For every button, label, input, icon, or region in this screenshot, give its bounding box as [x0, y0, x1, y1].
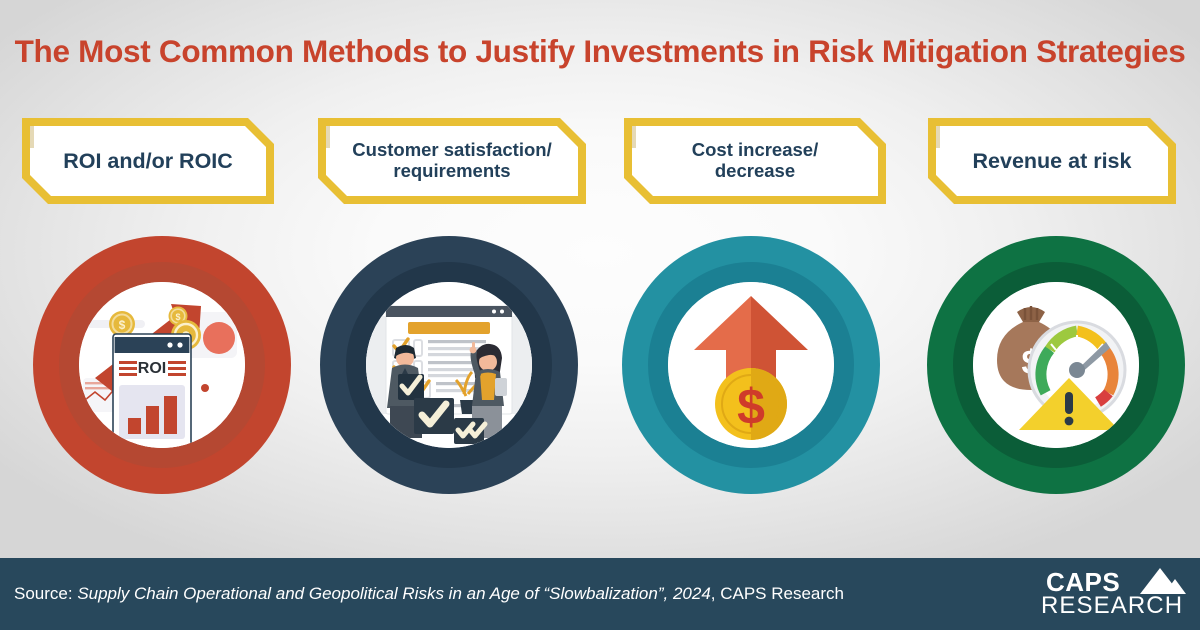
banner-label: Cost increase/ decrease [684, 140, 826, 181]
banner-row: ROI and/or ROIC Customer satisfaction/ r… [0, 118, 1200, 213]
banner-label: ROI and/or ROIC [55, 149, 241, 173]
icon-circle-revenue-at-risk: $ [927, 236, 1185, 494]
method-banner-cost-change[interactable]: Cost increase/ decrease [624, 118, 886, 204]
caps-research-logo[interactable]: CAPS RESEARCH [1030, 566, 1190, 622]
banner-notch [326, 126, 330, 148]
money-bag-gauge-warning-icon: $ [973, 282, 1139, 448]
icon-circle-row: $ $ $ [0, 236, 1200, 506]
banner-notch [632, 126, 636, 148]
roi-dashboard-icon: $ $ $ [79, 282, 245, 448]
svg-text:$: $ [119, 318, 126, 332]
svg-text:ROI: ROI [138, 360, 166, 377]
svg-text:$: $ [175, 312, 180, 322]
banner-inner: ROI and/or ROIC [30, 126, 266, 196]
icon-circle-cost-change: $ [622, 236, 880, 494]
page-title: The Most Common Methods to Justify Inves… [0, 33, 1200, 70]
icon-circle-roi: $ $ $ [33, 236, 291, 494]
banner-inner: Customer satisfaction/ requirements [326, 126, 578, 196]
banner-notch [936, 126, 940, 148]
method-banner-customer-satisfaction[interactable]: Customer satisfaction/ requirements [318, 118, 586, 204]
source-prefix: Source: [14, 584, 77, 603]
banner-inner: Cost increase/ decrease [632, 126, 878, 196]
banner-label: Revenue at risk [965, 149, 1140, 173]
banner-inner: Revenue at risk [936, 126, 1168, 196]
icon-circle-customer-satisfaction [320, 236, 578, 494]
banner-label: Customer satisfaction/ requirements [344, 140, 559, 181]
method-banner-roi[interactable]: ROI and/or ROIC [22, 118, 274, 204]
source-title: Supply Chain Operational and Geopolitica… [77, 584, 710, 603]
source-citation: Source: Supply Chain Operational and Geo… [14, 584, 844, 604]
footer-bar: Source: Supply Chain Operational and Geo… [0, 558, 1200, 630]
svg-text:$: $ [737, 379, 765, 435]
up-arrow-coin-icon: $ [668, 282, 834, 448]
infographic-canvas: The Most Common Methods to Justify Inves… [0, 0, 1200, 630]
banner-notch [30, 126, 34, 148]
source-suffix: , CAPS Research [711, 584, 844, 603]
checklist-team-icon [366, 282, 532, 448]
method-banner-revenue-at-risk[interactable]: Revenue at risk [928, 118, 1176, 204]
logo-line-research: RESEARCH [1041, 592, 1183, 620]
